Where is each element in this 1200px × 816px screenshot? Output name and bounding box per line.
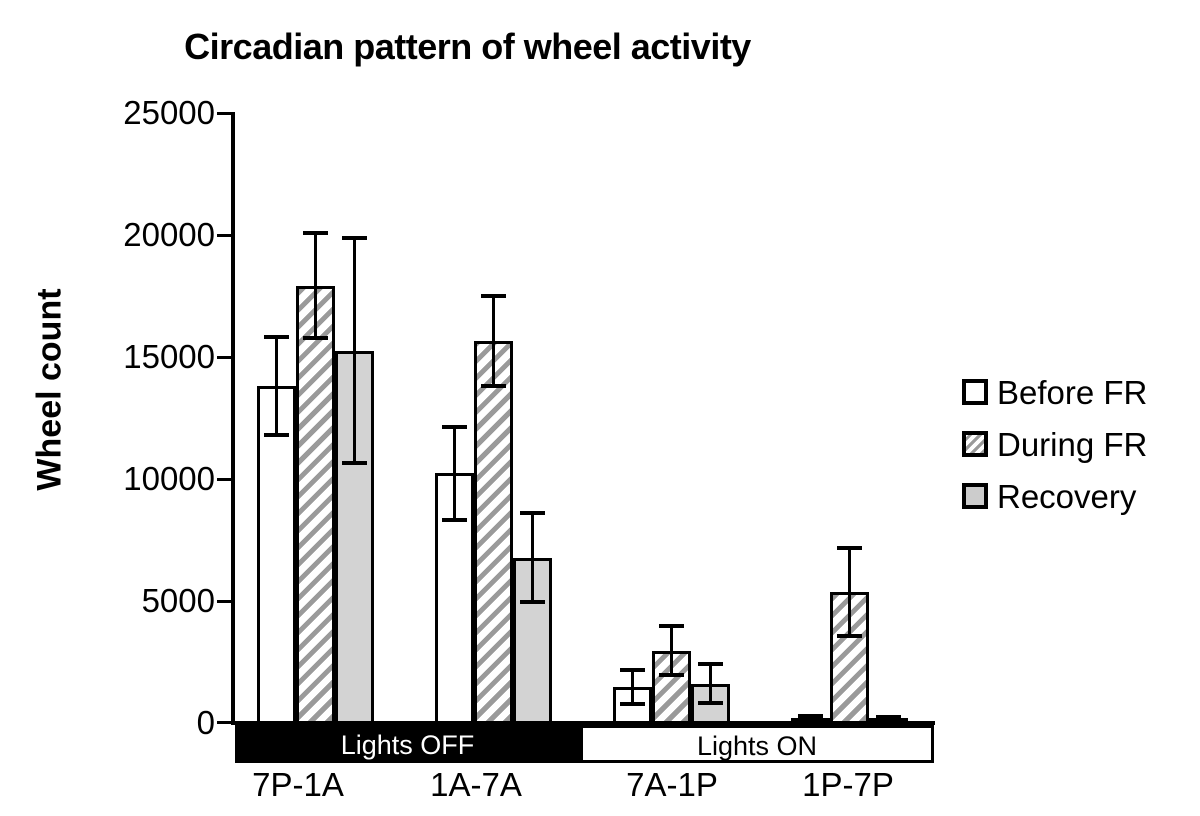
legend-label-during-fr: During FR bbox=[997, 428, 1147, 461]
legend-swatch-before-fr-icon bbox=[962, 379, 988, 405]
legend-swatch-during-fr-icon bbox=[962, 431, 988, 457]
error-cap-upper bbox=[620, 668, 645, 672]
bar-7P-1A-during bbox=[296, 286, 335, 724]
y-tick-label-20000: 20000 bbox=[55, 218, 215, 251]
error-cap-lower bbox=[837, 634, 862, 638]
error-bar-7A-1P-during bbox=[670, 626, 673, 675]
error-bar-1P-7P-during bbox=[848, 548, 851, 636]
error-cap-upper bbox=[837, 546, 862, 550]
x-tick-label-0: 7P-1A bbox=[218, 765, 378, 805]
error-bar-7P-1A-recovery bbox=[353, 238, 356, 463]
error-bar-7P-1A-before bbox=[275, 337, 278, 435]
plot-area bbox=[235, 100, 935, 724]
y-tick-25000 bbox=[217, 112, 231, 115]
error-cap-lower bbox=[442, 518, 467, 522]
legend-label-recovery: Recovery bbox=[997, 480, 1136, 513]
y-tick-0 bbox=[217, 721, 231, 724]
error-bar-7P-1A-during bbox=[314, 233, 317, 338]
chart-figure: Circadian pattern of wheel activity Whee… bbox=[0, 0, 1200, 816]
error-cap-upper bbox=[698, 662, 723, 666]
error-cap-upper bbox=[520, 511, 545, 515]
error-cap-upper bbox=[264, 335, 289, 339]
chart-legend: Before FR During FR Recovery bbox=[962, 366, 1200, 522]
x-tick-label-3: 1P-7P bbox=[768, 765, 928, 805]
y-tick-20000 bbox=[217, 234, 231, 237]
error-bar-1A-7A-during bbox=[492, 296, 495, 387]
error-bar-1A-7A-before bbox=[453, 427, 456, 520]
error-cap-upper bbox=[342, 236, 367, 240]
y-tick-15000 bbox=[217, 356, 231, 359]
error-cap-lower bbox=[620, 702, 645, 706]
y-tick-label-5000: 5000 bbox=[55, 584, 215, 617]
bar-1A-7A-during bbox=[474, 341, 513, 724]
y-tick-5000 bbox=[217, 600, 231, 603]
legend-item-recovery: Recovery bbox=[962, 470, 1200, 522]
error-cap-lower bbox=[264, 433, 289, 437]
y-tick-label-15000: 15000 bbox=[55, 340, 215, 373]
lights-off-band: Lights OFF bbox=[235, 725, 580, 763]
lights-on-band: Lights ON bbox=[580, 725, 934, 763]
error-cap-lower bbox=[520, 600, 545, 604]
error-cap-upper bbox=[798, 714, 823, 718]
error-cap-upper bbox=[442, 425, 467, 429]
error-cap-lower bbox=[303, 336, 328, 340]
error-cap-lower bbox=[481, 384, 506, 388]
error-cap-upper bbox=[876, 715, 901, 719]
x-tick-label-1: 1A-7A bbox=[396, 765, 556, 805]
x-tick-label-2: 7A-1P bbox=[592, 765, 752, 805]
y-tick-label-10000: 10000 bbox=[55, 462, 215, 495]
legend-item-during-fr: During FR bbox=[962, 418, 1200, 470]
error-bar-7A-1P-before bbox=[631, 670, 634, 704]
error-cap-lower bbox=[342, 461, 367, 465]
error-cap-upper bbox=[303, 231, 328, 235]
error-cap-upper bbox=[659, 624, 684, 628]
y-tick-10000 bbox=[217, 478, 231, 481]
error-cap-lower bbox=[659, 673, 684, 677]
error-bar-1A-7A-recovery bbox=[531, 513, 534, 601]
error-cap-upper bbox=[481, 294, 506, 298]
y-tick-label-25000: 25000 bbox=[55, 96, 215, 129]
legend-item-before-fr: Before FR bbox=[962, 366, 1200, 418]
error-cap-lower bbox=[698, 701, 723, 705]
y-tick-label-0: 0 bbox=[55, 706, 215, 739]
error-bar-7A-1P-recovery bbox=[709, 664, 712, 703]
y-axis-tick-labels: 25000 20000 15000 10000 5000 0 bbox=[35, 0, 215, 816]
legend-swatch-recovery-icon bbox=[962, 483, 988, 509]
legend-label-before-fr: Before FR bbox=[997, 376, 1147, 409]
